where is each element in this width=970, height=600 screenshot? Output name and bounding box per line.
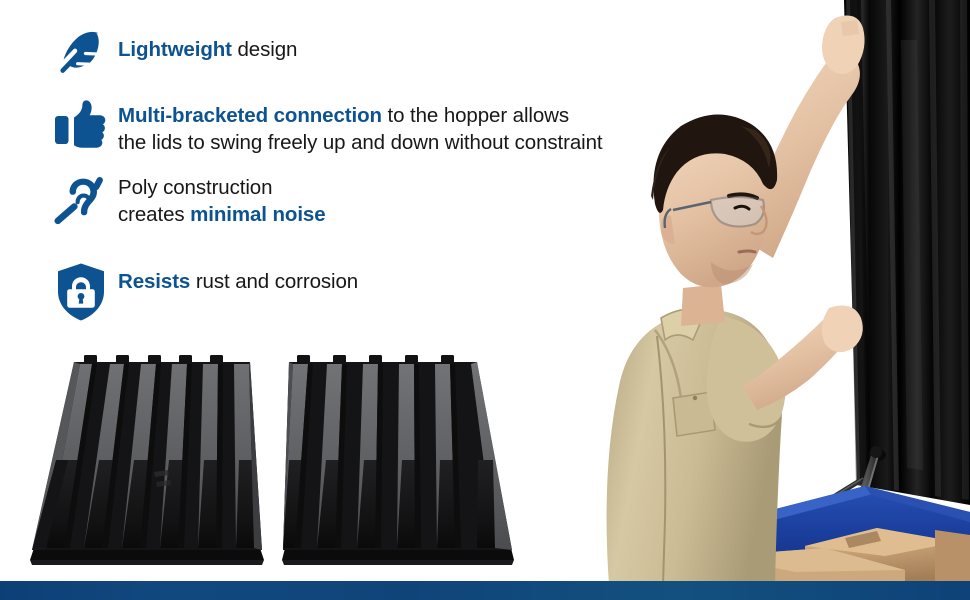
feature-line-1: Multi-bracketed connection to the hopper… (118, 102, 603, 129)
feature-emphasis: Lightweight (118, 38, 232, 61)
lifted-lid (844, 0, 970, 505)
feature-plain: creates (118, 203, 190, 226)
feature-plain: design (232, 38, 297, 61)
feature-line-1: Poly construction (118, 174, 326, 201)
feature-line-2: the lids to swing freely up and down wit… (118, 129, 603, 156)
poly-lid-right (281, 352, 516, 567)
feather-icon (44, 30, 118, 82)
poly-lid-left (28, 352, 268, 567)
bottom-accent-bar (0, 581, 970, 600)
shield-lock-icon (44, 262, 118, 322)
feature-text-multi-bracketed: Multi-bracketed connection to the hopper… (118, 100, 603, 156)
feature-item-minimal-noise: Poly construction creates minimal noise (44, 174, 326, 230)
feature-text-lightweight: Lightweight design (118, 30, 297, 63)
feature-text-minimal-noise: Poly construction creates minimal noise (118, 174, 326, 228)
feature-item-multi-bracketed: Multi-bracketed connection to the hopper… (44, 100, 603, 156)
feature-item-resists-rust: Resists rust and corrosion (44, 262, 358, 322)
thumbs-up-icon (44, 100, 118, 148)
scene-photo: man wearing safety glasses and tan work … (505, 0, 970, 585)
feature-plain: rust and corrosion (190, 270, 358, 293)
feature-emphasis: Multi-bracketed connection (118, 104, 382, 127)
feature-item-lightweight: Lightweight design (44, 30, 297, 82)
feature-text-resists-rust: Resists rust and corrosion (118, 262, 358, 295)
feature-line-2: creates minimal noise (118, 201, 326, 228)
feature-plain: to the hopper allows (382, 104, 569, 127)
hard-of-hearing-ear-icon (44, 174, 118, 230)
feature-emphasis: minimal noise (190, 203, 325, 226)
product-photo-lids (28, 352, 528, 567)
feature-emphasis: Resists (118, 270, 190, 293)
infographic-banner: man wearing safety glasses and tan work … (0, 0, 970, 600)
